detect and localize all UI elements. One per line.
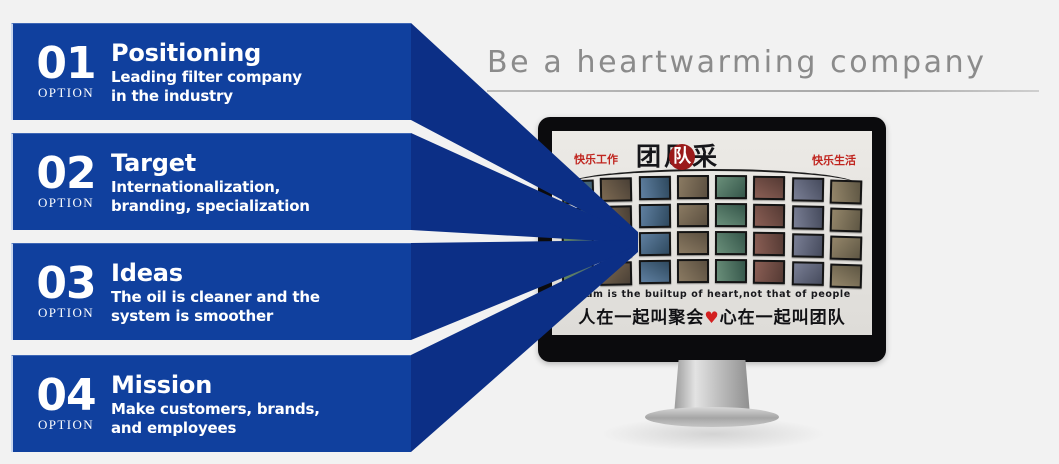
option-word-04: OPTION — [27, 417, 105, 432]
photo-thumbnail — [793, 207, 821, 228]
photo-thumbnail — [602, 235, 630, 256]
photo-row — [562, 175, 862, 202]
photo-frame — [791, 261, 823, 286]
option-desc-line2-03: system is smoother — [111, 307, 411, 325]
photo-frame — [791, 177, 823, 202]
photo-frame — [677, 231, 709, 255]
photo-thumbnail — [602, 207, 630, 228]
headline-divider — [487, 90, 1039, 92]
monitor-shadow — [600, 417, 826, 451]
option-desc-line1-01: Leading filter company — [111, 68, 411, 86]
option-desc-line1-02: Internationalization, — [111, 178, 411, 196]
photo-grid — [562, 175, 862, 287]
photo-row — [562, 203, 862, 230]
photo-frame — [753, 232, 785, 256]
photo-frame — [638, 176, 670, 200]
photo-row — [562, 259, 862, 286]
photo-thumbnail — [832, 210, 861, 231]
photo-frame — [562, 180, 595, 205]
photo-thumbnail — [793, 235, 821, 256]
photo-frame — [715, 203, 747, 227]
photo-thumbnail — [602, 179, 630, 200]
wall-footer-chinese: 人在一起叫聚会♥心在一起叫团队 — [558, 303, 866, 328]
option-word-01: OPTION — [27, 85, 105, 100]
photo-frame — [600, 205, 632, 230]
option-text-block-04: Mission Make customers, brands, and empl… — [105, 372, 411, 437]
photo-thumbnail — [640, 178, 668, 198]
option-number-block-02: 02 OPTION — [13, 154, 105, 210]
option-bar-01[interactable]: 01 OPTION Positioning Leading filter com… — [11, 23, 411, 120]
wall-footer-cn-left: 人在一起叫聚会 — [578, 308, 704, 328]
option-number-04: 04 — [27, 376, 105, 416]
photo-frame — [715, 175, 747, 199]
computer-monitor: 快乐工作 团风采 队 快乐生活 Team is the builtup of h… — [538, 117, 886, 362]
photo-frame — [753, 260, 785, 284]
photo-thumbnail — [564, 210, 593, 231]
option-title-03: Ideas — [111, 260, 411, 287]
option-word-03: OPTION — [27, 305, 105, 320]
photo-thumbnail — [755, 262, 783, 282]
photo-thumbnail — [717, 233, 745, 253]
photo-frame — [600, 233, 632, 258]
wall-header-left-text: 快乐工作 — [574, 151, 618, 167]
photo-thumbnail — [755, 206, 783, 226]
photo-thumbnail — [679, 177, 707, 197]
option-title-02: Target — [111, 150, 411, 177]
photo-thumbnail — [793, 179, 821, 200]
photo-thumbnail — [602, 263, 630, 284]
photo-thumbnail — [755, 178, 783, 198]
heart-icon: ♥ — [704, 308, 719, 327]
photo-wall-header: 快乐工作 团风采 队 快乐生活 — [552, 143, 872, 171]
photo-frame — [753, 176, 785, 200]
photo-frame — [562, 208, 595, 233]
photo-thumbnail — [679, 205, 707, 225]
option-number-block-01: 01 OPTION — [13, 44, 105, 100]
option-word-02: OPTION — [27, 195, 105, 210]
photo-thumbnail — [564, 182, 593, 203]
option-text-block-02: Target Internationalization, branding, s… — [105, 150, 411, 215]
photo-frame — [830, 208, 863, 233]
photo-frame — [638, 260, 670, 284]
monitor-screen: 快乐工作 团风采 队 快乐生活 Team is the builtup of h… — [552, 131, 872, 335]
photo-thumbnail — [679, 233, 707, 253]
photo-thumbnail — [717, 177, 745, 197]
option-bar-02[interactable]: 02 OPTION Target Internationalization, b… — [11, 133, 411, 230]
photo-frame — [715, 259, 747, 283]
photo-thumbnail — [793, 263, 821, 284]
option-number-02: 02 — [27, 154, 105, 194]
option-number-03: 03 — [27, 264, 105, 304]
photo-frame — [830, 264, 863, 289]
photo-thumbnail — [755, 234, 783, 254]
photo-thumbnail — [717, 205, 745, 225]
photo-thumbnail — [832, 182, 861, 203]
photo-wall-image: 快乐工作 团风采 队 快乐生活 Team is the builtup of h… — [552, 131, 872, 335]
photo-thumbnail — [640, 206, 668, 226]
option-desc-line2-02: branding, specialization — [111, 197, 411, 215]
photo-frame — [791, 233, 823, 258]
photo-frame — [638, 204, 670, 228]
photo-thumbnail — [832, 238, 861, 259]
option-bar-04[interactable]: 04 OPTION Mission Make customers, brands… — [11, 355, 411, 452]
option-text-block-01: Positioning Leading filter company in th… — [105, 40, 411, 105]
seal-character: 队 — [669, 144, 695, 170]
option-number-block-03: 03 OPTION — [13, 264, 105, 320]
option-title-04: Mission — [111, 372, 411, 399]
photo-thumbnail — [564, 266, 593, 287]
photo-frame — [562, 264, 595, 289]
option-desc-line1-04: Make customers, brands, — [111, 400, 411, 418]
photo-frame — [715, 231, 747, 255]
photo-frame — [677, 259, 709, 283]
photo-frame — [600, 261, 632, 286]
photo-frame — [830, 236, 863, 261]
headline-block: Be a heartwarming company — [487, 44, 1053, 92]
infographic-canvas: 01 OPTION Positioning Leading filter com… — [0, 0, 1059, 464]
option-desc-line1-03: The oil is cleaner and the — [111, 288, 411, 306]
photo-thumbnail — [564, 238, 593, 259]
wall-footer-english: Team is the builtup of heart,not that of… — [562, 289, 862, 300]
option-text-block-03: Ideas The oil is cleaner and the system … — [105, 260, 411, 325]
wall-header-right-text: 快乐生活 — [812, 152, 856, 168]
option-number-01: 01 — [27, 44, 105, 84]
option-bar-03[interactable]: 03 OPTION Ideas The oil is cleaner and t… — [11, 243, 411, 340]
option-number-block-04: 04 OPTION — [13, 376, 105, 432]
option-title-01: Positioning — [111, 40, 411, 67]
photo-row — [562, 231, 862, 258]
photo-frame — [791, 205, 823, 230]
headline-text: Be a heartwarming company — [487, 44, 1053, 82]
photo-thumbnail — [679, 261, 707, 281]
photo-frame — [677, 175, 709, 199]
option-desc-line2-04: and employees — [111, 419, 411, 437]
wall-footer-cn-right: 心在一起叫团队 — [720, 308, 846, 328]
photo-frame — [830, 180, 863, 205]
photo-thumbnail — [640, 262, 668, 282]
photo-thumbnail — [717, 261, 745, 281]
photo-frame — [638, 232, 670, 256]
photo-thumbnail — [640, 234, 668, 254]
photo-thumbnail — [832, 266, 861, 287]
photo-frame — [562, 236, 595, 261]
photo-frame — [753, 204, 785, 228]
photo-frame — [600, 177, 632, 202]
photo-frame — [677, 203, 709, 227]
option-desc-line2-01: in the industry — [111, 87, 411, 105]
